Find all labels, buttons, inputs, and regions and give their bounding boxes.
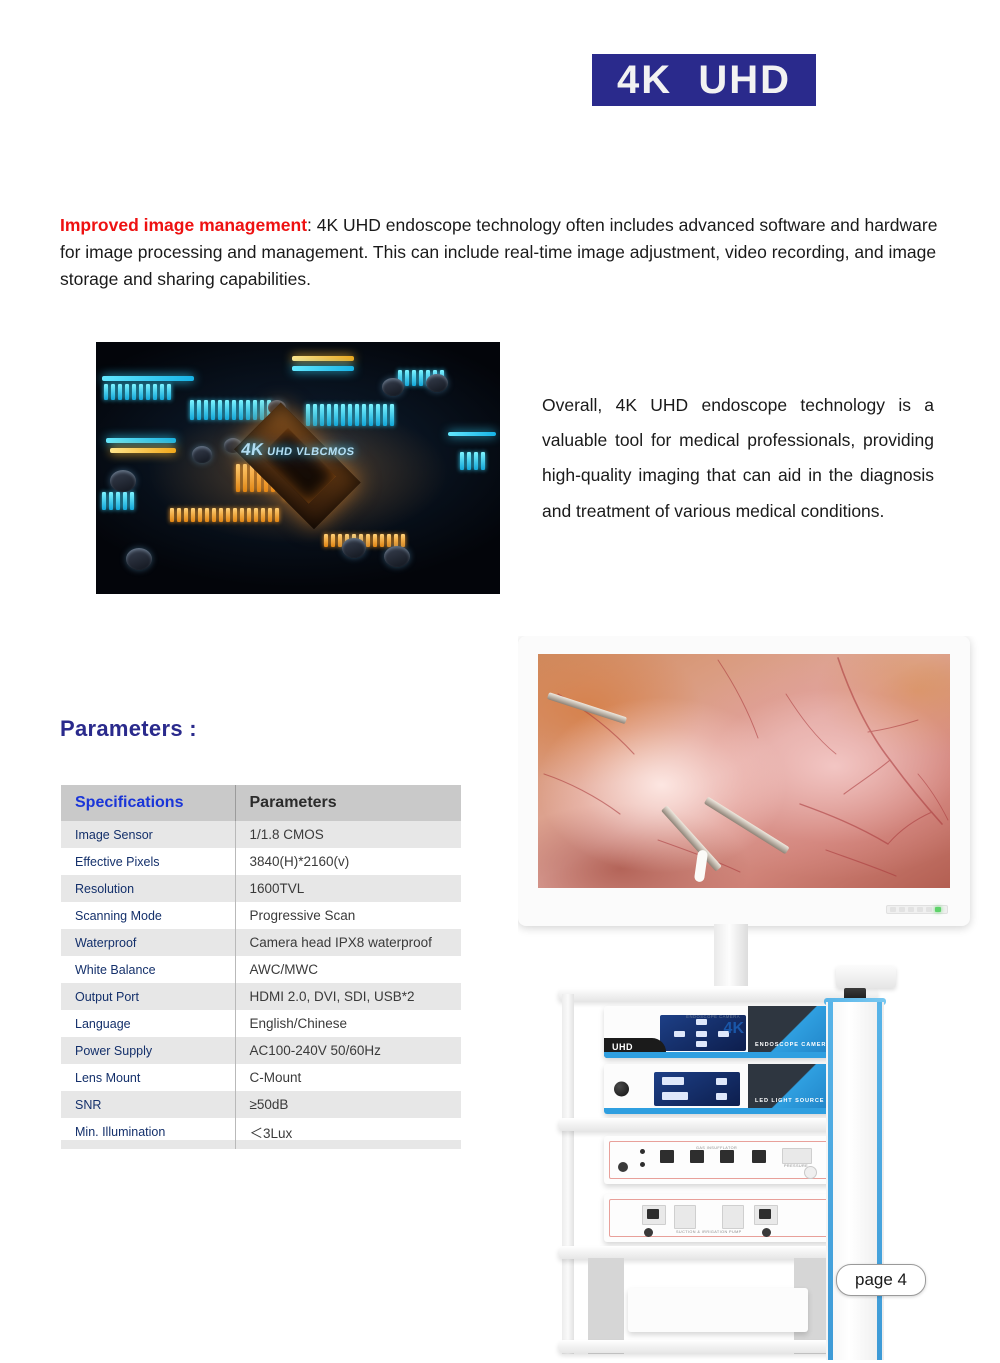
pin-bank bbox=[102, 492, 134, 510]
column-stripe-right bbox=[877, 1002, 882, 1360]
overall-paragraph: Overall, 4K UHD endoscope technology is … bbox=[542, 388, 934, 529]
table-row: Image Sensor1/1.8 CMOS bbox=[61, 821, 461, 848]
intro-lead: Improved image management bbox=[60, 215, 307, 235]
capacitor bbox=[426, 374, 448, 392]
unit-power-knob[interactable] bbox=[614, 1082, 629, 1097]
unit-port[interactable] bbox=[644, 1228, 653, 1237]
unit-button-group[interactable] bbox=[674, 1205, 696, 1229]
hologram-label: 4K UHD VLBCMOS bbox=[240, 440, 356, 460]
parameters-heading: Parameters : bbox=[60, 716, 197, 742]
spec-value: C-Mount bbox=[235, 1064, 461, 1091]
unit-gas-insufflator: GAS INSUFFLATOR PRESSURE bbox=[604, 1136, 844, 1184]
unit-subtitle: ENDOSCOPE CAMERA bbox=[686, 1014, 740, 1019]
glow-bar-cyan bbox=[448, 432, 496, 436]
table-row: Resolution1600TVL bbox=[61, 875, 461, 902]
unit-readout bbox=[720, 1150, 734, 1163]
monitor-button[interactable] bbox=[899, 907, 905, 912]
spec-key: Language bbox=[61, 1010, 235, 1037]
capacitor bbox=[342, 538, 366, 558]
table-body: Image Sensor1/1.8 CMOS Effective Pixels3… bbox=[61, 821, 461, 1145]
table-row: WaterproofCamera head IPX8 waterproof bbox=[61, 929, 461, 956]
monitor-button[interactable] bbox=[926, 907, 932, 912]
capacitor bbox=[382, 378, 404, 396]
monitor-screen bbox=[538, 654, 950, 888]
spec-value: 1600TVL bbox=[235, 875, 461, 902]
capacitor bbox=[110, 470, 136, 492]
unit-indicator bbox=[640, 1149, 645, 1154]
unit-readout bbox=[660, 1150, 674, 1163]
capacitor bbox=[384, 546, 410, 567]
header-specifications: Specifications bbox=[61, 785, 235, 821]
table-row: Effective Pixels3840(H)*2160(v) bbox=[61, 848, 461, 875]
unit-brand: UHD bbox=[612, 1042, 633, 1052]
pin-bank bbox=[460, 452, 485, 470]
circuit-board-image: 4K UHD VLBCMOS bbox=[96, 342, 500, 594]
capacitor bbox=[192, 446, 212, 463]
unit-label: LED LIGHT SOURCE bbox=[755, 1098, 824, 1104]
spec-value: 1/1.8 CMOS bbox=[235, 821, 461, 848]
unit-readout bbox=[690, 1150, 704, 1163]
banner-title: 4K UHD bbox=[617, 60, 791, 100]
cart-accent-column bbox=[818, 988, 892, 1360]
spec-key: Lens Mount bbox=[61, 1064, 235, 1091]
unit-indicator bbox=[640, 1162, 645, 1167]
table-bottom-strip bbox=[61, 1140, 461, 1149]
spec-value: HDMI 2.0, DVI, SDI, USB*2 bbox=[235, 983, 461, 1010]
spec-key: Effective Pixels bbox=[61, 848, 235, 875]
unit-suction-irrigation-pump: SUCTION & IRRIGATION PUMP bbox=[604, 1194, 844, 1242]
column-stripe-left bbox=[828, 1002, 833, 1360]
table-row: SNR≥50dB bbox=[61, 1091, 461, 1118]
glow-bar-cyan bbox=[106, 438, 176, 443]
spec-value: Camera head IPX8 waterproof bbox=[235, 929, 461, 956]
spec-value: ≥50dB bbox=[235, 1091, 461, 1118]
unit-accent-strip bbox=[604, 1108, 844, 1114]
monitor-button[interactable] bbox=[908, 907, 914, 912]
unit-accent-strip bbox=[604, 1052, 844, 1058]
unit-button[interactable] bbox=[804, 1166, 817, 1179]
capacitor bbox=[126, 548, 152, 570]
table-row: White BalanceAWC/MWC bbox=[61, 956, 461, 983]
unit-pressure-panel bbox=[782, 1148, 812, 1164]
spec-key: Waterproof bbox=[61, 929, 235, 956]
unit-face bbox=[628, 1288, 808, 1332]
glow-bar-cyan bbox=[292, 366, 354, 371]
pin-bank bbox=[104, 384, 171, 400]
power-led-indicator bbox=[935, 907, 941, 912]
monitor-button[interactable] bbox=[917, 907, 923, 912]
table-row: Power SupplyAC100-240V 50/60Hz bbox=[61, 1037, 461, 1064]
monitor-button[interactable] bbox=[890, 907, 896, 912]
intro-paragraph: Improved image management: 4K UHD endosc… bbox=[60, 212, 950, 293]
spec-key: White Balance bbox=[61, 956, 235, 983]
spec-value: 3840(H)*2160(v) bbox=[235, 848, 461, 875]
column-top-box bbox=[836, 966, 896, 988]
glow-bar-yellow bbox=[110, 448, 176, 453]
table-row: Scanning ModeProgressive Scan bbox=[61, 902, 461, 929]
table-row: LanguageEnglish/Chinese bbox=[61, 1010, 461, 1037]
unit-display-digits bbox=[759, 1209, 771, 1219]
spec-value: English/Chinese bbox=[235, 1010, 461, 1037]
pin-bank bbox=[190, 400, 271, 420]
spec-value: Progressive Scan bbox=[235, 902, 461, 929]
spec-key: Power Supply bbox=[61, 1037, 235, 1064]
page-number-badge: page 4 bbox=[836, 1264, 926, 1296]
unit-label: SUCTION & IRRIGATION PUMP bbox=[676, 1230, 742, 1234]
unit-knob[interactable] bbox=[618, 1162, 628, 1172]
unit-model-4k: 4K bbox=[724, 1020, 744, 1038]
spec-value: AC100-240V 50/60Hz bbox=[235, 1037, 461, 1064]
unit-display-digits bbox=[647, 1209, 659, 1219]
spec-key: SNR bbox=[61, 1091, 235, 1118]
table-row: Lens MountC-Mount bbox=[61, 1064, 461, 1091]
glow-bar-yellow bbox=[292, 356, 354, 361]
table-bottom-divider bbox=[235, 1140, 236, 1149]
unit-display bbox=[654, 1072, 740, 1106]
unit-readout bbox=[752, 1150, 766, 1163]
glow-bar-cyan bbox=[102, 376, 194, 381]
unit-endoscope-camera: 4K ENDOSCOPE CAMERA ENDOSCOPE CAMERA UHD bbox=[604, 1006, 844, 1058]
spec-value: AWC/MWC bbox=[235, 956, 461, 983]
pin-bank bbox=[306, 404, 394, 426]
unit-button-group[interactable] bbox=[722, 1205, 744, 1229]
monitor-neck bbox=[714, 924, 748, 986]
product-photo: 4K ENDOSCOPE CAMERA ENDOSCOPE CAMERA UHD… bbox=[518, 636, 1000, 1363]
table-row: Output PortHDMI 2.0, DVI, SDI, USB*2 bbox=[61, 983, 461, 1010]
unit-port[interactable] bbox=[762, 1228, 771, 1237]
banner-4k-uhd: 4K UHD bbox=[592, 54, 816, 106]
spec-key: Scanning Mode bbox=[61, 902, 235, 929]
spec-key: Output Port bbox=[61, 983, 235, 1010]
specifications-table: Specifications Parameters Image Sensor1/… bbox=[61, 785, 461, 1145]
medical-monitor bbox=[518, 636, 970, 926]
unit-auxiliary bbox=[628, 1288, 808, 1332]
blood-vessels bbox=[538, 654, 950, 888]
monitor-control-buttons[interactable] bbox=[886, 905, 948, 914]
spec-key: Resolution bbox=[61, 875, 235, 902]
column-body bbox=[826, 1002, 884, 1360]
pin-bank-orange bbox=[170, 508, 279, 522]
header-parameters: Parameters bbox=[235, 785, 461, 821]
spec-key: Image Sensor bbox=[61, 821, 235, 848]
unit-led-light-source: LIGHT SOURCE LED LIGHT SOURCE bbox=[604, 1064, 844, 1114]
cart-side-panel bbox=[562, 994, 574, 1354]
table-header-row: Specifications Parameters bbox=[61, 785, 461, 821]
